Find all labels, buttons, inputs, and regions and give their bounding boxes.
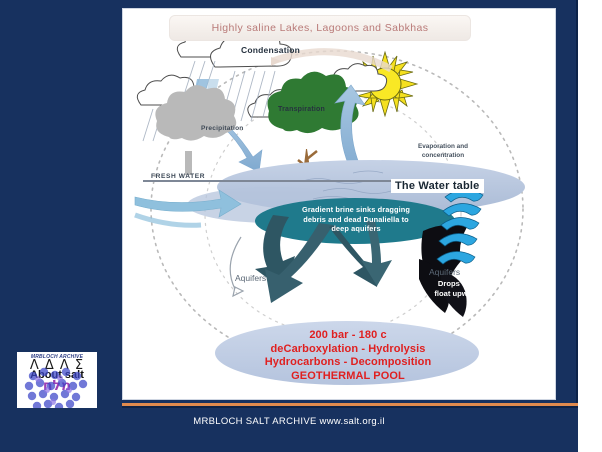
label-evaporation-concentration: Evaporation and concentration: [401, 143, 485, 160]
footer-under-bar: [0, 434, 578, 452]
brine-line-1: Gradient brine sinks dragging: [273, 205, 439, 215]
slide-title-banner: Highly saline Lakes, Lagoons and Sabkhas: [169, 15, 471, 41]
label-oil-drops: Drops of oil float upwards: [429, 279, 489, 298]
label-transpiration: Transpiration: [278, 106, 325, 113]
pool-line-4: GEOTHERMAL POOL: [223, 370, 473, 384]
footer-bar: MRBLOCH SALT ARCHIVE www.salt.org.il: [0, 408, 578, 434]
geothermal-pool-text: 200 bar - 180 c deCarboxylation - Hydrol…: [223, 329, 473, 383]
pool-line-3: Hydrocarbons - Decomposition: [223, 356, 473, 370]
label-water-table: The Water table: [391, 179, 484, 193]
screenshot-root: Highly saline Lakes, Lagoons and Sabkhas…: [0, 0, 602, 452]
slide-title: Highly saline Lakes, Lagoons and Sabkhas: [212, 22, 429, 34]
right-margin: [578, 0, 602, 452]
label-aquifers-left: Aquifers: [235, 273, 266, 283]
mrbloch-archive-logo: MRBLOCH ARCHIVE Λ Δ Λ Σ About salt מלח: [14, 349, 100, 415]
brine-callout-text: Gradient brine sinks dragging debris and…: [273, 205, 439, 234]
label-condensation: Condensation: [241, 45, 300, 55]
label-aquifers-right: Aquifers: [429, 267, 460, 277]
label-fresh-water: FRESH WATER: [151, 173, 205, 180]
pool-line-1: 200 bar - 180 c: [223, 329, 473, 343]
footer-text: MRBLOCH SALT ARCHIVE www.salt.org.il: [193, 416, 385, 427]
slide-canvas: Highly saline Lakes, Lagoons and Sabkhas…: [122, 8, 556, 400]
pool-line-2: deCarboxylation - Hydrolysis: [223, 343, 473, 357]
label-precipitation: Precipitation: [201, 125, 244, 132]
brine-line-2: debris and dead Dunaliella to: [273, 215, 439, 225]
brine-line-3: deep aquifers: [273, 224, 439, 234]
